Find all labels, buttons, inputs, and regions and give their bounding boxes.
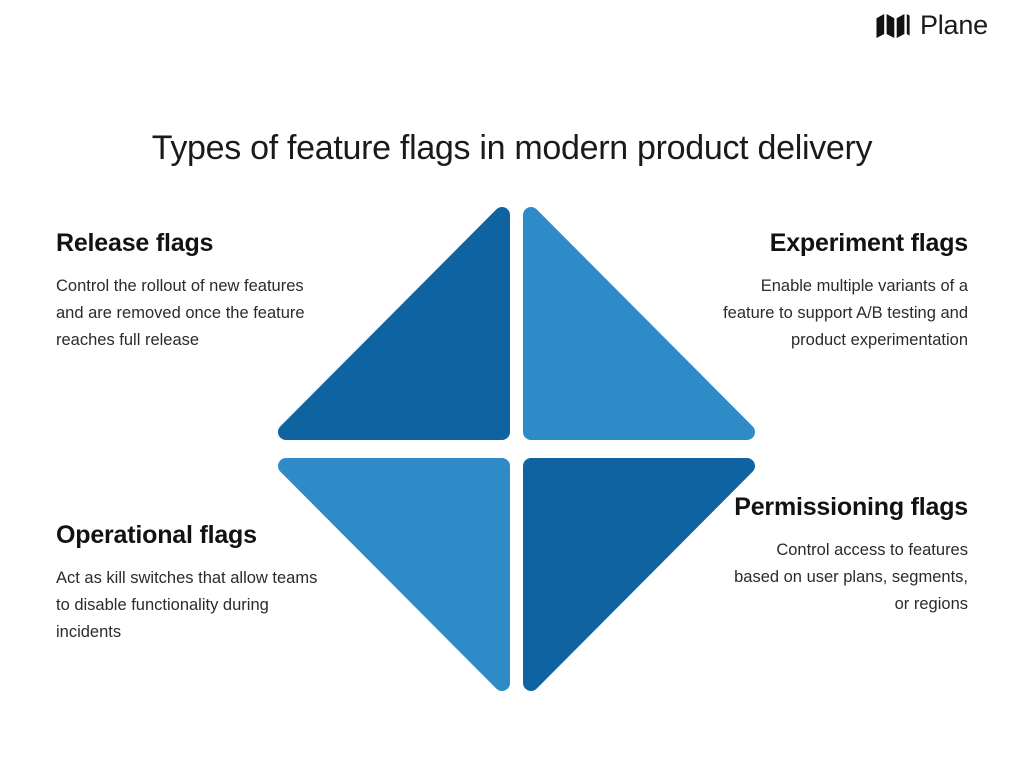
description-operational-flags: Act as kill switches that allow teams to… bbox=[56, 565, 332, 647]
description-experiment-flags: Enable multiple variants of a feature to… bbox=[706, 273, 968, 355]
brand-name: Plane bbox=[920, 12, 988, 39]
brand-logo: Plane bbox=[875, 12, 988, 39]
text-block-permissioning-flags: Permissioning flags Control access to fe… bbox=[734, 492, 968, 618]
quadrant-bottom-right bbox=[523, 458, 755, 691]
triangle-bottom-right-icon bbox=[523, 458, 755, 691]
heading-experiment-flags: Experiment flags bbox=[706, 228, 968, 259]
heading-release-flags: Release flags bbox=[56, 228, 324, 259]
description-permissioning-flags: Control access to features based on user… bbox=[734, 537, 968, 619]
description-release-flags: Control the rollout of new features and … bbox=[56, 273, 324, 355]
plane-logo-icon bbox=[875, 13, 911, 39]
text-block-experiment-flags: Experiment flags Enable multiple variant… bbox=[706, 228, 968, 354]
heading-permissioning-flags: Permissioning flags bbox=[734, 492, 968, 523]
text-block-release-flags: Release flags Control the rollout of new… bbox=[56, 228, 324, 354]
diamond-diagram bbox=[278, 207, 755, 691]
heading-operational-flags: Operational flags bbox=[56, 520, 332, 551]
page-title: Types of feature flags in modern product… bbox=[0, 129, 1024, 168]
text-block-operational-flags: Operational flags Act as kill switches t… bbox=[56, 520, 332, 646]
